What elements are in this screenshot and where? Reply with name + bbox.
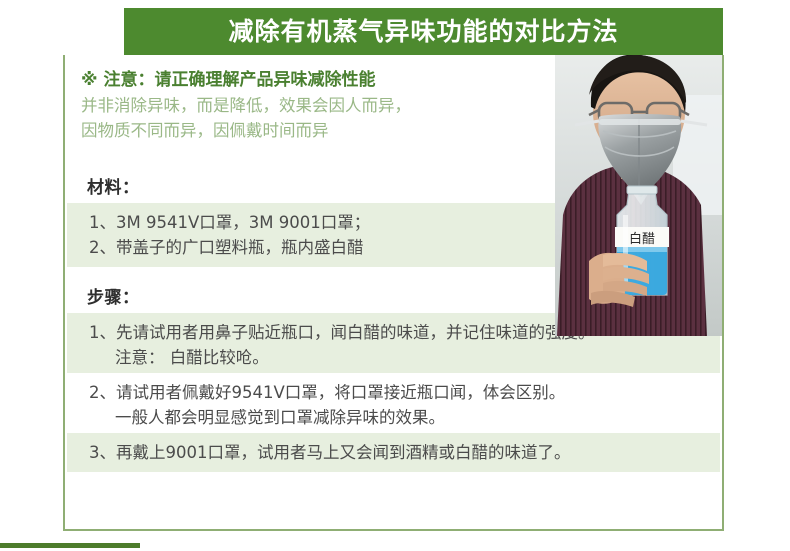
svg-text:白醋: 白醋 [629,231,655,247]
bottom-accent-bar [0,543,140,548]
step-3-line-1: 3、再戴上9001口罩，试用者马上又会闻到酒精或白醋的味道了。 [89,440,720,465]
page-root: 减除有机蒸气异味功能的对比方法 ※ 注意：请正确理解产品异味减除性能 并非消除异… [0,0,790,551]
step-row-2: 2、请试用者佩戴好9541V口罩，将口罩接近瓶口闻，体会区别。 一般人都会明显感… [67,373,720,437]
materials-heading: 材料： [87,173,140,198]
page-title: 减除有机蒸气异味功能的对比方法 [228,19,618,44]
notice-line-1: 并非消除异味，而是降低，效果会因人而异， [81,93,551,118]
photo-illustration: 白醋 [555,55,724,336]
step-2-line-1: 2、请试用者佩戴好9541V口罩，将口罩接近瓶口闻，体会区别。 [89,380,720,405]
content-container: ※ 注意：请正确理解产品异味减除性能 并非消除异味，而是降低，效果会因人而异， … [63,55,724,531]
steps-heading: 步骤： [87,283,140,308]
notice-line-2: 因物质不同而异，因佩戴时间而异 [81,118,551,143]
step-row-3: 3、再戴上9001口罩，试用者马上又会闻到酒精或白醋的味道了。 [67,433,720,472]
notice-heading: ※ 注意：请正确理解产品异味减除性能 [81,67,551,93]
notice-block: ※ 注意：请正确理解产品异味减除性能 并非消除异味，而是降低，效果会因人而异， … [81,67,551,143]
step-1-line-2: 注意： 白醋比较呛。 [89,345,720,370]
step-2-line-2: 一般人都会明显感觉到口罩减除异味的效果。 [89,405,720,430]
demonstration-photo: 白醋 [555,55,724,336]
page-title-bar: 减除有机蒸气异味功能的对比方法 [124,8,723,55]
